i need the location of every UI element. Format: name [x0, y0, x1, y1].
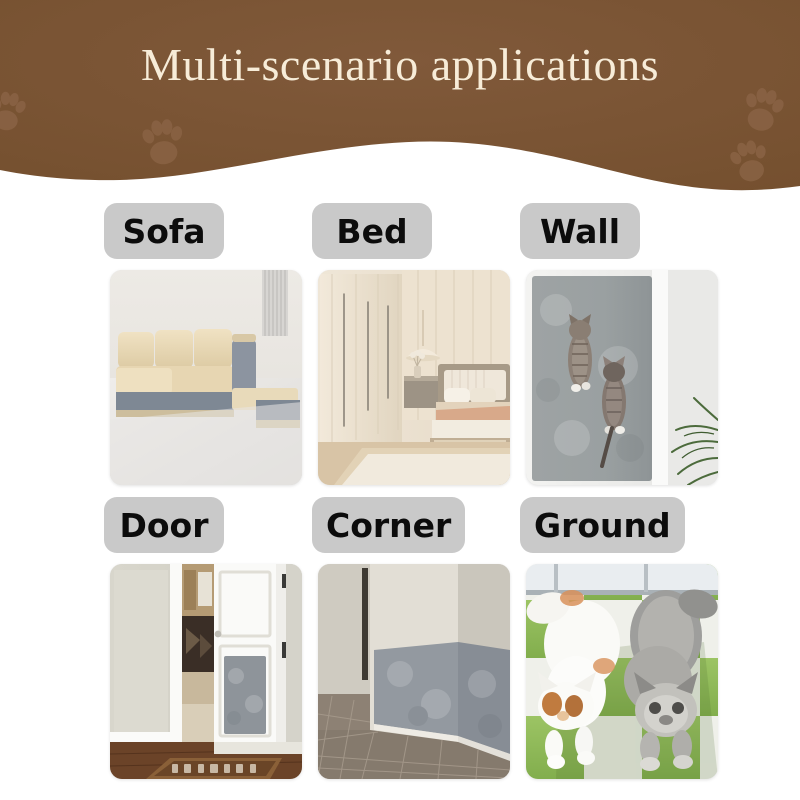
corner-scene-image — [318, 564, 510, 779]
ground-scene-image — [526, 564, 718, 779]
scenario-chip-ground[interactable]: Ground — [520, 497, 685, 553]
grid-cell-corner[interactable]: Corner — [312, 490, 520, 780]
scenario-label: Door — [119, 509, 208, 542]
scenario-chip-bed[interactable]: Bed — [312, 203, 432, 259]
grid-cell-ground[interactable]: Ground — [520, 490, 728, 780]
scenario-chip-sofa[interactable]: Sofa — [104, 203, 224, 259]
header-wave-shape — [0, 0, 800, 200]
door-scene-image — [110, 564, 302, 779]
scenario-label: Sofa — [122, 215, 205, 248]
grid-cell-bed[interactable]: Bed — [312, 196, 520, 486]
grid-cell-wall[interactable]: Wall — [520, 196, 728, 486]
header-banner: Multi-scenario applications — [0, 0, 800, 200]
wall-scene-image — [526, 270, 718, 485]
scenario-chip-door[interactable]: Door — [104, 497, 224, 553]
scenario-grid: Sofa — [0, 196, 800, 800]
page-title: Multi-scenario applications — [0, 38, 800, 91]
poster-page: Multi-scenario applications — [0, 0, 800, 800]
scenario-label: Wall — [540, 215, 620, 248]
scenario-chip-corner[interactable]: Corner — [312, 497, 465, 553]
scenario-label: Corner — [326, 509, 451, 542]
grid-cell-sofa[interactable]: Sofa — [104, 196, 312, 486]
bed-scene-image — [318, 270, 510, 485]
scenario-label: Ground — [534, 509, 671, 542]
sofa-scene-image — [110, 270, 302, 485]
scenario-chip-wall[interactable]: Wall — [520, 203, 640, 259]
scenario-label: Bed — [336, 215, 407, 248]
grid-cell-door[interactable]: Door — [104, 490, 312, 780]
